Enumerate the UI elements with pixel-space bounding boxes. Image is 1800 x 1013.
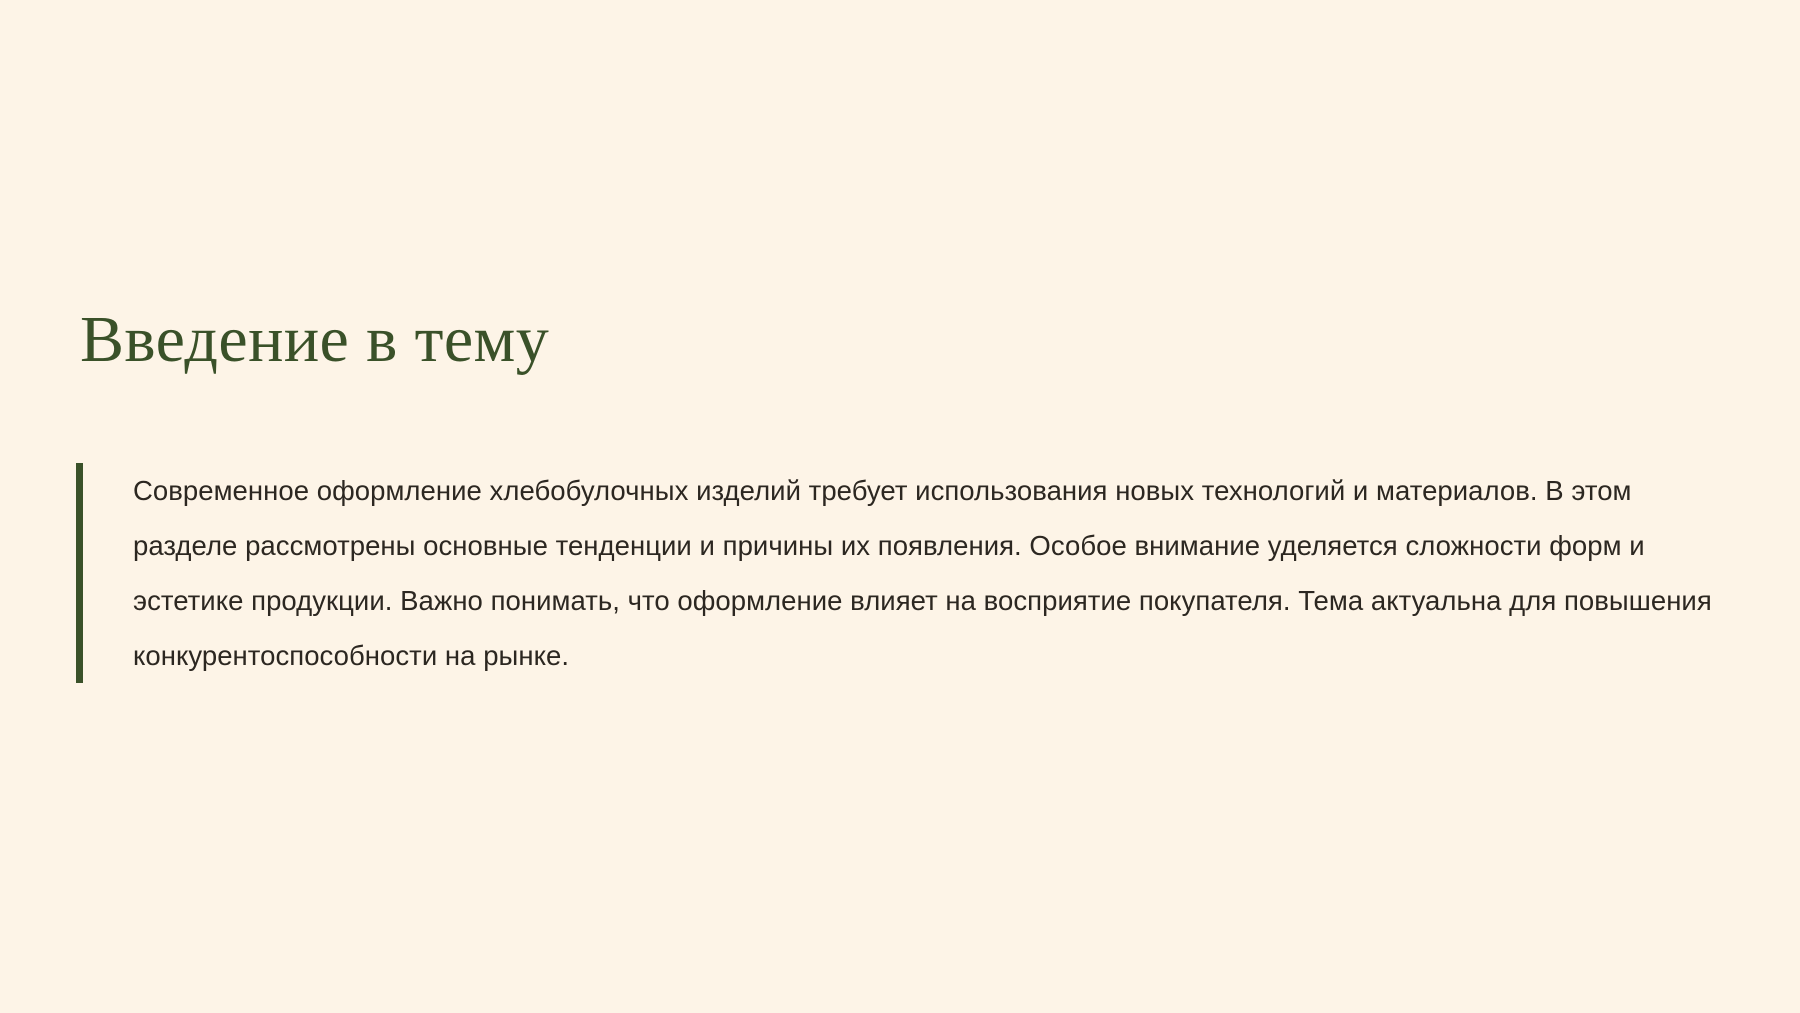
accent-bar	[76, 463, 83, 683]
intro-paragraph: Современное оформление хлебобулочных изд…	[83, 463, 1726, 683]
slide-canvas: Введение в тему Современное оформление х…	[0, 0, 1800, 1013]
intro-text-block: Современное оформление хлебобулочных изд…	[76, 463, 1726, 683]
page-title: Введение в тему	[80, 300, 1720, 380]
